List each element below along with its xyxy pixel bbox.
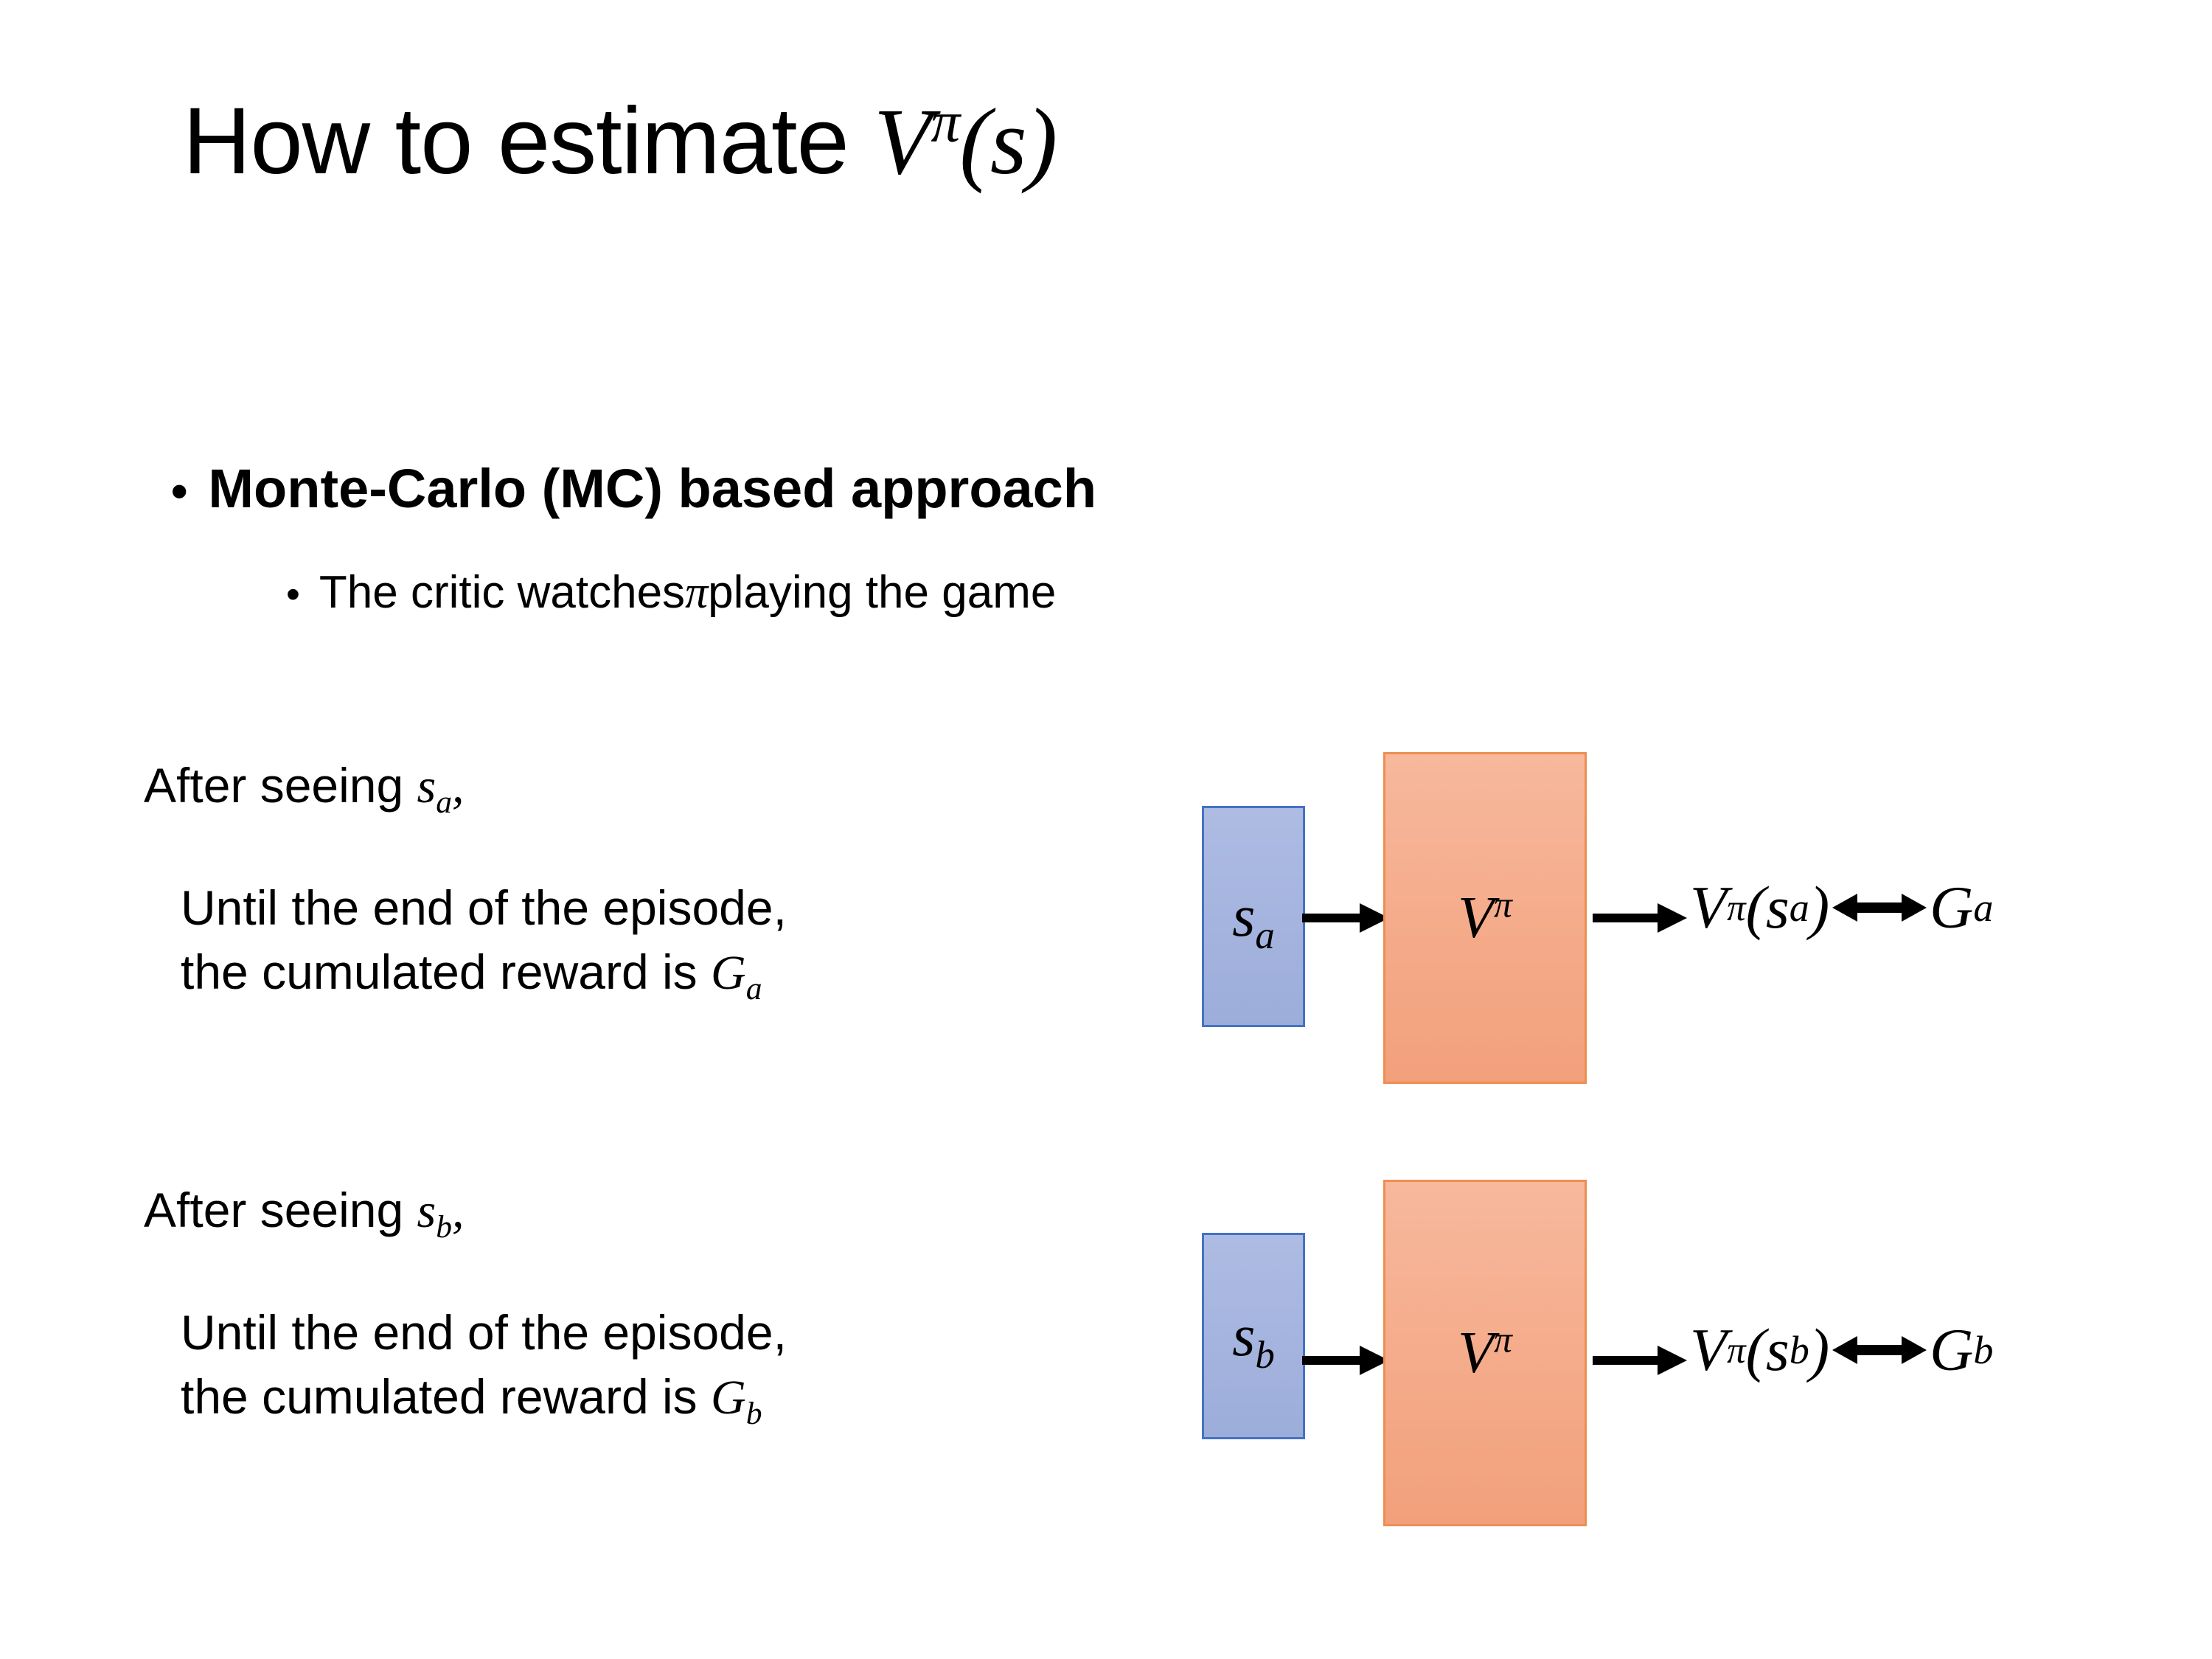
section-a-arrow-state-to-fn xyxy=(1302,896,1391,940)
section-a-double-arrow-icon xyxy=(1832,888,1927,927)
section-a-after-seeing: After seeing sa, xyxy=(144,761,465,811)
section-a-return-target-symbol: G xyxy=(1930,877,1973,938)
bullet-marker-icon: • xyxy=(171,467,187,515)
section-b-output-close-paren: ) xyxy=(1809,1320,1829,1380)
bullet-critic-watches: • The critic watches π playing the game xyxy=(286,566,1056,619)
sub-bullet-text-after: playing the game xyxy=(708,566,1056,619)
section-b-state-symbol: s xyxy=(417,1184,437,1238)
section-a-state-box: sa xyxy=(1202,806,1305,1027)
section-a-state-box-label: sa xyxy=(1232,887,1275,946)
section-b-output-open-paren: ( xyxy=(1746,1320,1766,1380)
title-state-arg: (s) xyxy=(959,89,1057,194)
bullet-monte-carlo: • Monte-Carlo (MC) based approach xyxy=(171,457,1096,520)
section-b-output-value-symbol: V xyxy=(1690,1320,1727,1380)
section-a-value-function-label: Vπ xyxy=(1458,888,1512,947)
section-a-return-subscript: a xyxy=(746,971,762,1006)
section-a-until-line2-prefix: the cumulated reward is xyxy=(181,945,711,999)
bullet-monte-carlo-label: Monte-Carlo (MC) based approach xyxy=(208,457,1096,520)
section-a-after-seeing-prefix: After seeing xyxy=(144,758,417,813)
section-b-output-expression: Vπ(sb ) Gb xyxy=(1690,1320,1993,1380)
page-title: How to estimate Vπ(s) xyxy=(183,87,1057,196)
section-b-until-line1: Until the end of the episode, xyxy=(181,1301,787,1365)
title-policy-superscript: π xyxy=(931,89,959,154)
section-a-until-block: Until the end of the episode, the cumula… xyxy=(181,876,787,1005)
title-prefix: How to estimate xyxy=(183,88,874,194)
section-b-return-symbol: G xyxy=(711,1371,746,1425)
title-value-symbol: V xyxy=(874,89,931,194)
slide-canvas: How to estimate Vπ(s) • Monte-Carlo (MC)… xyxy=(0,0,2212,1659)
section-b-arrow-state-to-fn xyxy=(1302,1338,1391,1382)
sub-bullet-text-before: The critic watches xyxy=(319,566,685,619)
section-b-until-line2: the cumulated reward is Gb xyxy=(181,1365,787,1430)
section-b-until-block: Until the end of the episode, the cumula… xyxy=(181,1301,787,1430)
section-b-state-subscript: b xyxy=(436,1209,452,1245)
section-a-output-state-symbol: s xyxy=(1766,877,1790,938)
section-b-until-line2-prefix: the cumulated reward is xyxy=(181,1369,711,1424)
section-a-return-symbol: G xyxy=(711,946,746,1000)
section-b-return-target-symbol: G xyxy=(1930,1320,1973,1380)
sub-bullet-marker-icon: • xyxy=(286,574,300,614)
section-a-until-line2: the cumulated reward is Ga xyxy=(181,940,787,1005)
section-b-arrow-fn-to-output xyxy=(1593,1338,1688,1382)
section-a-value-function-box: Vπ xyxy=(1383,752,1587,1084)
section-a-arrow-fn-to-output xyxy=(1593,896,1688,940)
sub-bullet-pi-symbol: π xyxy=(685,567,708,619)
section-b-after-seeing: After seeing sb, xyxy=(144,1186,465,1236)
section-a-output-value-symbol: V xyxy=(1690,877,1727,938)
section-b-value-function-box: Vπ xyxy=(1383,1180,1587,1526)
section-a-state-subscript: a xyxy=(436,785,452,820)
section-b-return-subscript: b xyxy=(746,1396,762,1431)
section-a-state-symbol: s xyxy=(417,759,437,813)
section-b-after-seeing-comma: , xyxy=(452,1184,465,1238)
section-b-after-seeing-prefix: After seeing xyxy=(144,1183,417,1237)
section-a-until-line1: Until the end of the episode, xyxy=(181,876,787,940)
section-b-output-state-symbol: s xyxy=(1766,1320,1790,1380)
section-a-after-seeing-comma: , xyxy=(452,759,465,813)
section-a-output-expression: Vπ(sa) Ga xyxy=(1690,877,1993,938)
section-b-state-box-label: sb xyxy=(1232,1307,1275,1366)
section-b-state-box: sb xyxy=(1202,1233,1305,1439)
section-a-output-close-paren: ) xyxy=(1809,877,1829,938)
section-a-output-open-paren: ( xyxy=(1746,877,1766,938)
section-b-double-arrow-icon xyxy=(1832,1331,1927,1369)
section-b-value-function-label: Vπ xyxy=(1458,1324,1512,1382)
